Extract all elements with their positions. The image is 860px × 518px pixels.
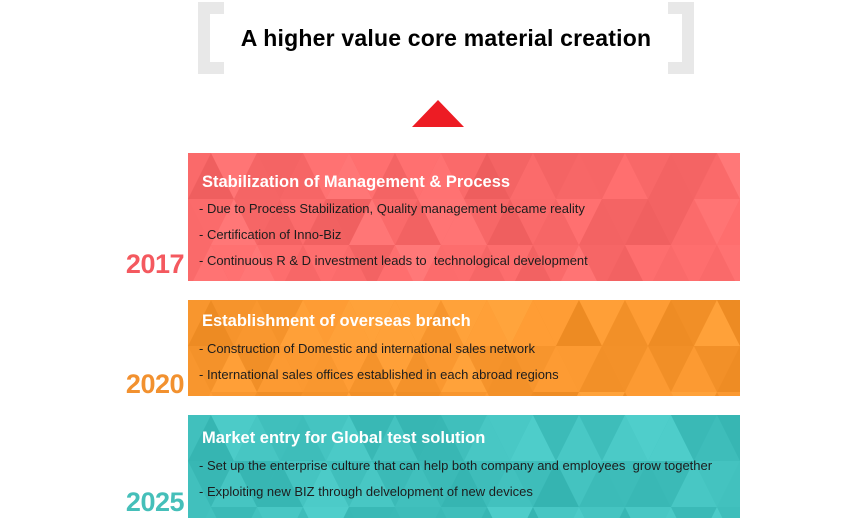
band-line: - Certification of Inno-Biz (199, 227, 740, 242)
right-bracket-icon (668, 2, 694, 74)
band-line: - Exploiting new BIZ through delvelopmen… (199, 484, 740, 499)
band-heading: Establishment of overseas branch (202, 312, 740, 331)
year-label-2017: 2017 (104, 249, 184, 280)
left-bracket-icon (198, 2, 224, 74)
band-heading: Market entry for Global test solution (202, 429, 740, 448)
timeline-band-2025[interactable]: Market entry for Global test solution - … (188, 415, 740, 518)
timeline-band-2020[interactable]: Establishment of overseas branch - Const… (188, 300, 740, 396)
band-line: - Due to Process Stabilization, Quality … (199, 201, 740, 216)
timeline-band-2017[interactable]: Stabilization of Management & Process - … (188, 153, 740, 281)
band-line: - International sales offices establishe… (199, 367, 740, 382)
band-content: Stabilization of Management & Process - … (188, 153, 740, 268)
band-line: - Set up the enterprise culture that can… (199, 458, 740, 473)
band-content: Market entry for Global test solution - … (188, 415, 740, 499)
title-frame: A higher value core material creation (198, 2, 694, 74)
year-label-2020: 2020 (104, 369, 184, 400)
year-label-2025: 2025 (104, 487, 184, 518)
band-line: - Construction of Domestic and internati… (199, 341, 740, 356)
band-heading: Stabilization of Management & Process (202, 173, 740, 192)
band-line: - Continuous R & D investment leads to t… (199, 253, 740, 268)
red-up-triangle-icon (412, 100, 464, 127)
band-content: Establishment of overseas branch - Const… (188, 300, 740, 382)
page-title: A higher value core material creation (224, 2, 668, 74)
